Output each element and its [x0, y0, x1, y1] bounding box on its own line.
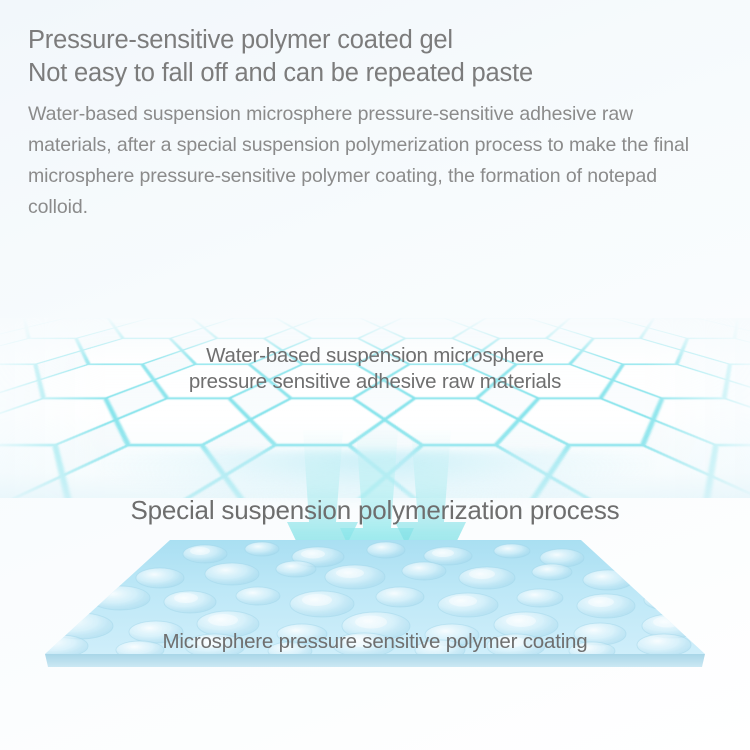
headline-line-2: Not easy to fall off and can be repeated… [28, 57, 718, 90]
text-block: Pressure-sensitive polymer coated gel No… [28, 24, 718, 223]
bottom-layer-slab [0, 540, 750, 700]
top-layer-label: Water-based suspension microsphere press… [0, 343, 750, 395]
bottom-layer-label: Microsphere pressure sensitive polymer c… [0, 630, 750, 654]
top-layer-label-line-1: Water-based suspension microsphere [0, 343, 750, 369]
slab-edge [45, 654, 705, 667]
process-label: Special suspension polymerization proces… [0, 495, 750, 526]
body-paragraph: Water-based suspension microsphere press… [28, 99, 700, 223]
top-layer-label-line-2: pressure sensitive adhesive raw material… [0, 369, 750, 395]
diagram-scene: Water-based suspension microsphere press… [0, 300, 750, 720]
infographic-page: Pressure-sensitive polymer coated gel No… [0, 0, 750, 750]
slab-icon [0, 540, 750, 700]
headline-line-1: Pressure-sensitive polymer coated gel [28, 24, 718, 57]
